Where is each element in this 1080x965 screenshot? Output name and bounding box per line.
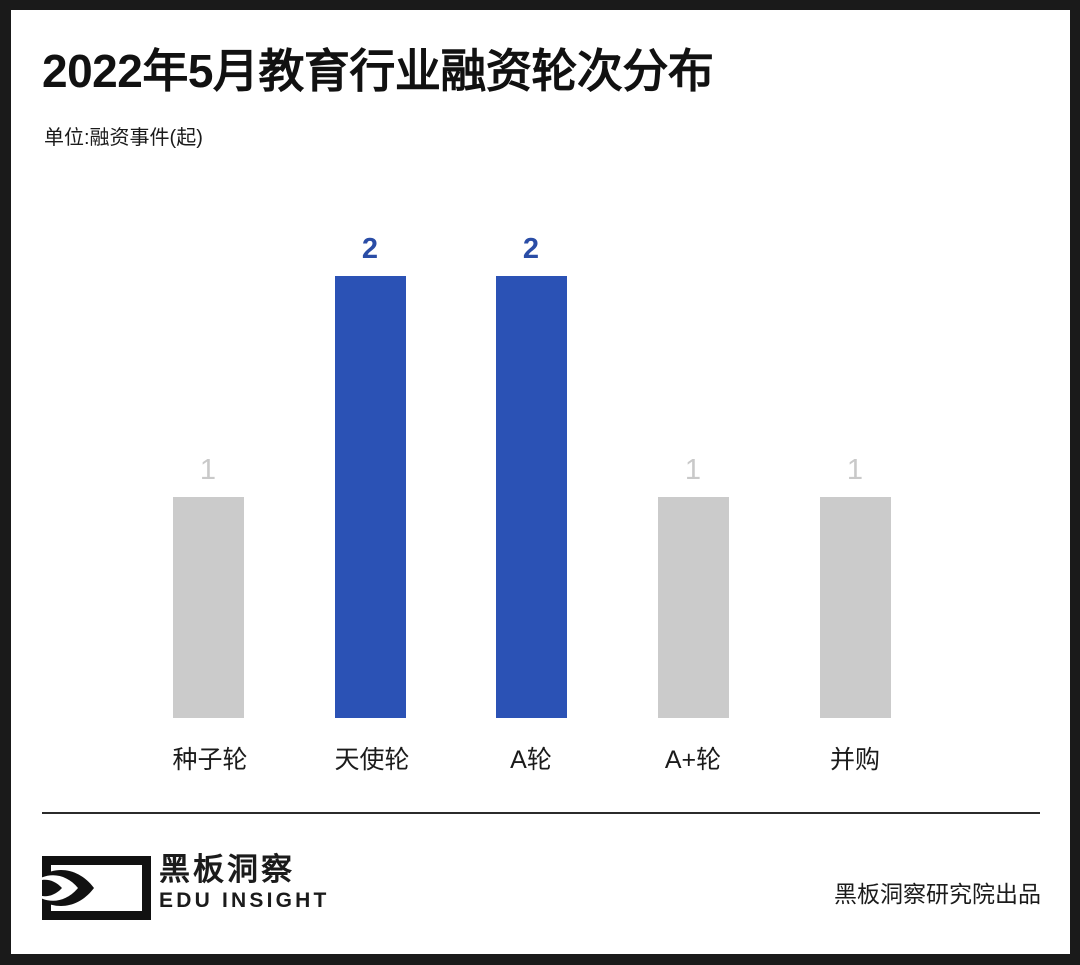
x-axis-category-label: 并购 xyxy=(820,740,891,776)
bar-group: 2A轮 xyxy=(496,276,567,718)
bar[interactable] xyxy=(173,497,244,718)
x-axis-category-label: A轮 xyxy=(496,740,567,776)
brand-wordmark: 黑板洞察 EDU INSIGHT xyxy=(159,852,330,913)
footer-divider xyxy=(42,812,1040,814)
edu-insight-eye-logo-icon xyxy=(42,856,151,920)
bar-value-label: 1 xyxy=(173,456,244,485)
x-axis-category-label: A+轮 xyxy=(658,740,729,776)
bar[interactable] xyxy=(658,497,729,718)
image-frame: 2022年5月教育行业融资轮次分布 单位:融资事件(起) 1种子轮2天使轮2A轮… xyxy=(0,0,1080,965)
bar-group: 1A+轮 xyxy=(658,497,729,718)
bar-value-label: 2 xyxy=(335,235,406,264)
bar-group: 1种子轮 xyxy=(173,497,244,718)
bar-value-label: 2 xyxy=(496,235,567,264)
bar-value-label: 1 xyxy=(820,456,891,485)
brand-name-en: EDU INSIGHT xyxy=(159,889,330,913)
bar-group: 1并购 xyxy=(820,497,891,718)
brand-name-cn: 黑板洞察 xyxy=(159,852,330,889)
x-axis-category-label: 天使轮 xyxy=(335,740,406,776)
x-axis-category-label: 种子轮 xyxy=(173,740,244,776)
bar[interactable] xyxy=(820,497,891,718)
bar-value-label: 1 xyxy=(658,456,729,485)
bar-group: 2天使轮 xyxy=(335,276,406,718)
bar[interactable] xyxy=(335,276,406,718)
chart-card: 2022年5月教育行业融资轮次分布 单位:融资事件(起) 1种子轮2天使轮2A轮… xyxy=(11,10,1070,954)
credit-text: 黑板洞察研究院出品 xyxy=(834,875,1041,909)
bar[interactable] xyxy=(496,276,567,718)
